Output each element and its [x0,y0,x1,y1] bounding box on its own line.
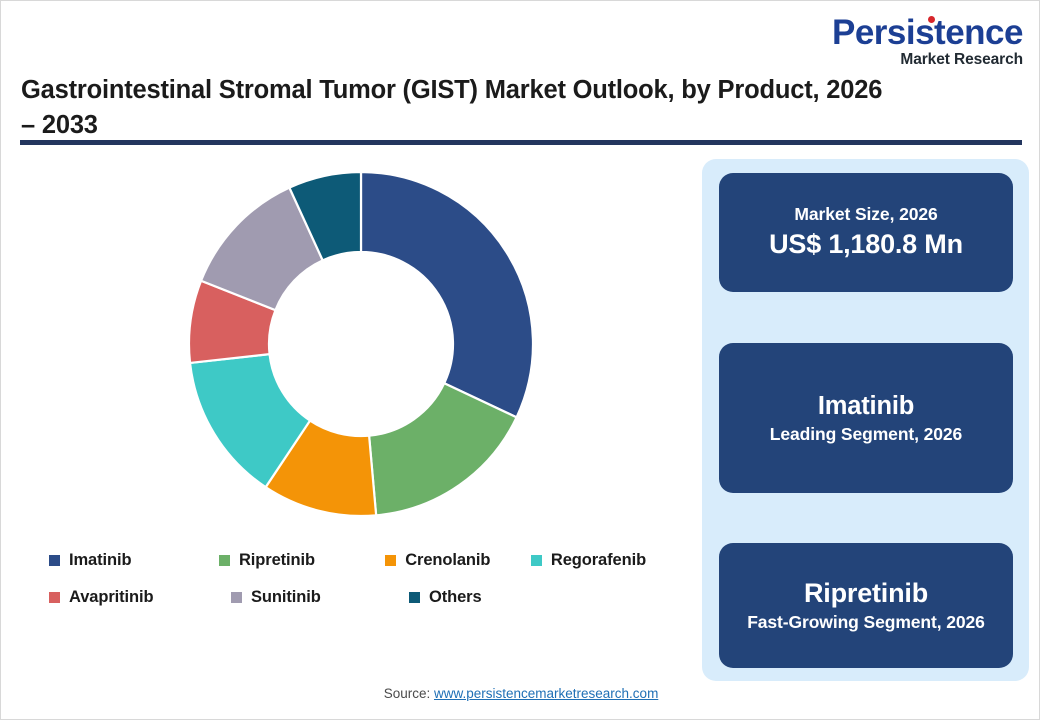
title-divider [20,140,1022,145]
legend-label: Ripretinib [239,551,315,570]
source-link[interactable]: www.persistencemarketresearch.com [434,686,658,701]
legend-label: Sunitinib [251,588,321,607]
infographic-canvas: Persistence Market Research Gastrointest… [0,0,1040,720]
logo-subtitle: Market Research [797,52,1023,68]
legend-row: ImatinibRipretinibCrenolanibRegorafenib [49,551,699,570]
page-title: Gastrointestinal Stromal Tumor (GIST) Ma… [21,73,901,143]
market-size-card: Market Size, 2026 US$ 1,180.8 Mn [719,173,1013,292]
leading-segment-card-value: Imatinib [818,390,914,423]
source-label: Source: [384,686,431,701]
leading-segment-card-label: Leading Segment, 2026 [770,423,962,447]
legend-item-ripretinib[interactable]: Ripretinib [219,551,385,570]
legend-swatch-icon [231,592,242,603]
legend-swatch-icon [49,592,60,603]
legend-label: Regorafenib [551,551,646,570]
legend-item-imatinib[interactable]: Imatinib [49,551,219,570]
legend-item-others[interactable]: Others [409,588,565,607]
donut-slice-group [189,172,533,516]
logo-wordmark: Persistence [832,15,1023,50]
chart-area [21,156,681,556]
legend-swatch-icon [531,555,542,566]
donut-chart [181,164,541,524]
market-size-card-label: Market Size, 2026 [794,203,937,227]
legend-label: Imatinib [69,551,131,570]
legend-label: Others [429,588,482,607]
legend-label: Crenolanib [405,551,490,570]
leading-segment-card: Imatinib Leading Segment, 2026 [719,343,1013,493]
company-logo: Persistence Market Research [797,15,1023,68]
legend-item-sunitinib[interactable]: Sunitinib [231,588,409,607]
source-footer: Source: www.persistencemarketresearch.co… [1,686,1040,701]
legend-swatch-icon [385,555,396,566]
legend-swatch-icon [219,555,230,566]
highlights-panel: Market Size, 2026 US$ 1,180.8 Mn Imatini… [702,159,1029,681]
legend-label: Avapritinib [69,588,153,607]
red-dot-icon [928,16,935,23]
legend-swatch-icon [49,555,60,566]
fast-growing-segment-card-label: Fast-Growing Segment, 2026 [747,611,985,635]
legend-item-crenolanib[interactable]: Crenolanib [385,551,531,570]
fast-growing-segment-card-value: Ripretinib [804,576,928,611]
donut-chart-svg [181,164,541,524]
legend-item-avapritinib[interactable]: Avapritinib [49,588,231,607]
market-size-card-value: US$ 1,180.8 Mn [769,227,963,262]
legend-item-regorafenib[interactable]: Regorafenib [531,551,699,570]
donut-slice-imatinib[interactable] [361,172,533,417]
chart-legend: ImatinibRipretinibCrenolanibRegorafenibA… [49,551,699,625]
fast-growing-segment-card: Ripretinib Fast-Growing Segment, 2026 [719,543,1013,668]
legend-row: AvapritinibSunitinibOthers [49,588,699,607]
legend-swatch-icon [409,592,420,603]
